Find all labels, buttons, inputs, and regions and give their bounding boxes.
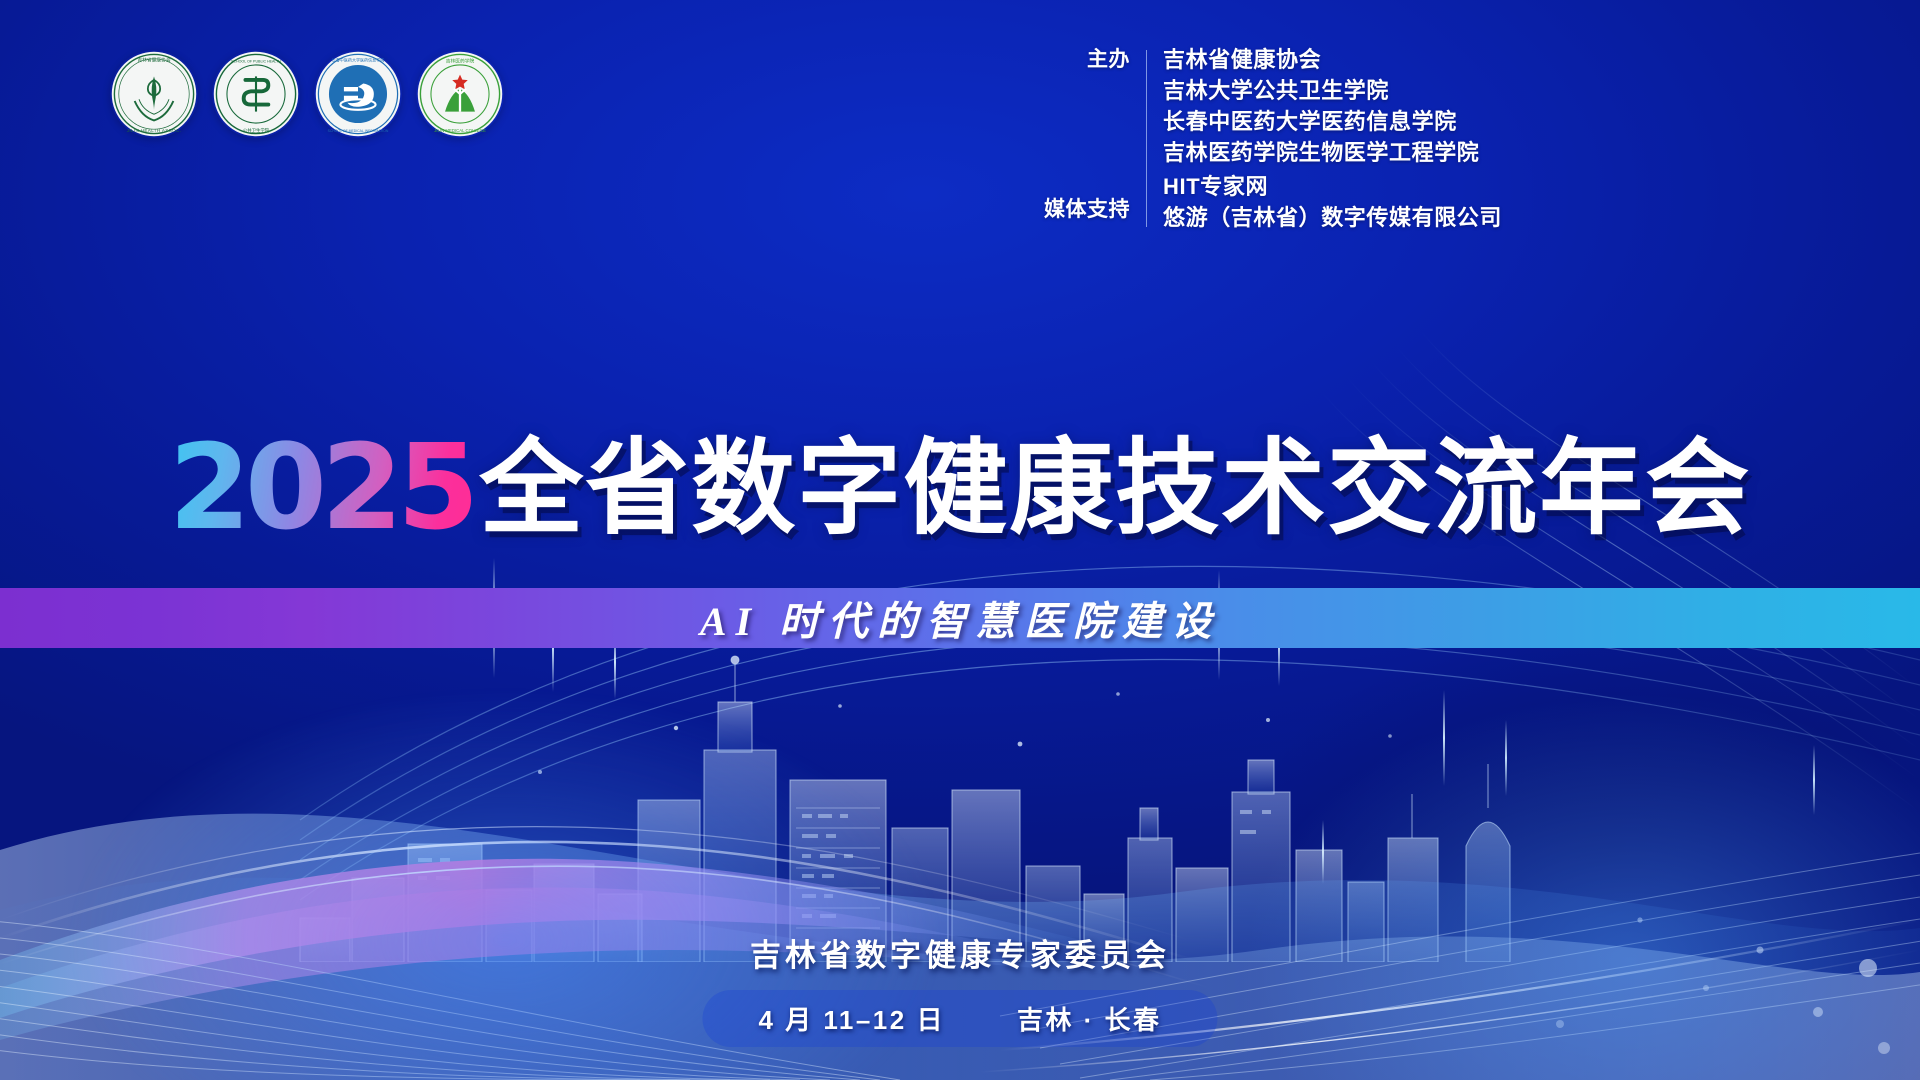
sponsor-block: 主办 媒体支持 吉林省健康协会 吉林大学公共卫生学院 长春中医药大学医药信息学院… — [1020, 44, 1880, 233]
city-skyline — [0, 632, 1920, 962]
organizer-logo-row: 吉林省健康协会 JILIN HEALTH ASSOC. SCHOOL OF PU… — [110, 50, 504, 138]
logo-jilin-health-association: 吉林省健康协会 JILIN HEALTH ASSOC. — [110, 50, 198, 138]
svg-text:长春中医药大学医药信息学院: 长春中医药大学医药信息学院 — [332, 56, 384, 62]
svg-text:SCHOOL OF MEDICAL INFORMATION: SCHOOL OF MEDICAL INFORMATION — [328, 129, 389, 133]
host-list: 吉林省健康协会 吉林大学公共卫生学院 长春中医药大学医药信息学院 吉林医药学院生… — [1163, 44, 1880, 168]
sponsor-values: 吉林省健康协会 吉林大学公共卫生学院 长春中医药大学医药信息学院 吉林医药学院生… — [1163, 44, 1880, 233]
host-item: 长春中医药大学医药信息学院 — [1163, 106, 1880, 137]
media-item: HIT专家网 — [1163, 171, 1880, 202]
sponsor-divider — [1146, 50, 1147, 227]
light-beam — [1505, 720, 1507, 796]
logo-jilin-medical-college: 吉林医药学院 JILIN MEDICAL COLLEGE — [416, 50, 504, 138]
conference-banner: 吉林省健康协会 JILIN HEALTH ASSOC. SCHOOL OF PU… — [0, 0, 1920, 1080]
logo-school-of-medical-information: 长春中医药大学医药信息学院 SCHOOL OF MEDICAL INFORMAT… — [314, 50, 402, 138]
light-beam — [1813, 745, 1815, 815]
light-beam — [1322, 820, 1324, 884]
media-label: 媒体支持 — [1020, 194, 1130, 225]
subtitle-text: AI 时代的智慧医院建设 — [700, 589, 1220, 647]
event-meta-pill: 4 月 11–12 日 吉林 · 长春 — [702, 990, 1217, 1047]
sponsor-labels: 主办 媒体支持 — [1020, 44, 1130, 233]
main-title-area: 2025 全省数字健康技术交流年会 — [0, 424, 1920, 542]
light-beam — [1443, 690, 1445, 786]
svg-text:JILIN HEALTH ASSOC.: JILIN HEALTH ASSOC. — [127, 128, 182, 133]
media-item: 悠游（吉林省）数字传媒有限公司 — [1163, 202, 1880, 233]
host-item: 吉林医药学院生物医学工程学院 — [1163, 137, 1880, 168]
event-date: 4 月 11–12 日 — [758, 1000, 945, 1037]
svg-text:JILIN MEDICAL COLLEGE: JILIN MEDICAL COLLEGE — [434, 128, 486, 133]
committee-name: 吉林省数字健康专家委员会 — [0, 930, 1920, 975]
title-main: 全省数字健康技术交流年会 — [479, 437, 1751, 541]
media-list: HIT专家网 悠游（吉林省）数字传媒有限公司 — [1163, 171, 1880, 233]
subtitle-band: AI 时代的智慧医院建设 — [0, 588, 1920, 648]
host-item: 吉林省健康协会 — [1163, 44, 1880, 75]
logo-school-of-public-health-jilin-university: SCHOOL OF PUBLIC HEALTH 公共卫生学院 — [212, 50, 300, 138]
host-label: 主办 — [1020, 44, 1130, 75]
title-year: 2025 — [169, 428, 473, 546]
svg-text:SCHOOL OF PUBLIC HEALTH: SCHOOL OF PUBLIC HEALTH — [231, 59, 281, 63]
event-location: 吉林 · 长春 — [1017, 1000, 1162, 1037]
host-item: 吉林大学公共卫生学院 — [1163, 75, 1880, 106]
